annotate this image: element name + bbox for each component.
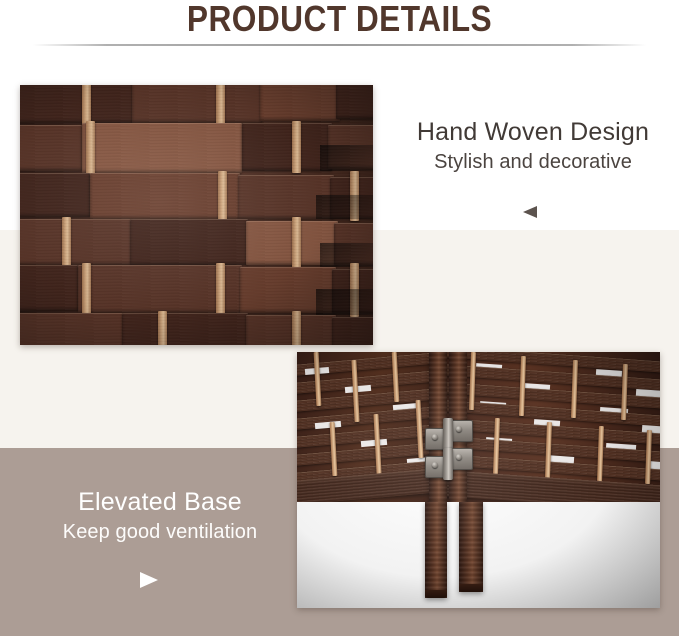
header: PRODUCT DETAILS xyxy=(0,0,679,44)
screen-panel-left xyxy=(297,352,446,502)
callout-hand-woven: Hand Woven Design Stylish and decorative xyxy=(398,118,668,175)
elevated-leg-left xyxy=(425,502,447,598)
product-details-infographic: PRODUCT DETAILS xyxy=(0,0,679,636)
arrow-left-icon xyxy=(523,206,537,218)
folding-screen-hinge-and-legs-photo xyxy=(297,352,660,608)
callout-elevated-base-heading: Elevated Base xyxy=(22,488,298,517)
woven-rattan-closeup-photo xyxy=(20,85,373,345)
callout-hand-woven-heading: Hand Woven Design xyxy=(398,118,668,147)
callout-elevated-base-subtitle: Keep good ventilation xyxy=(22,519,298,545)
page-title: PRODUCT DETAILS xyxy=(41,0,639,40)
elevated-leg-right-foot xyxy=(459,584,483,592)
elevated-leg-right xyxy=(459,502,483,592)
title-divider xyxy=(33,44,646,46)
callout-elevated-base: Elevated Base Keep good ventilation xyxy=(22,488,298,545)
elevated-leg-left-foot xyxy=(425,590,447,598)
callout-hand-woven-subtitle: Stylish and decorative xyxy=(398,149,668,175)
rattan-weave-texture xyxy=(20,85,373,345)
screen-panel-right xyxy=(446,352,660,502)
arrow-right-icon xyxy=(140,572,158,588)
